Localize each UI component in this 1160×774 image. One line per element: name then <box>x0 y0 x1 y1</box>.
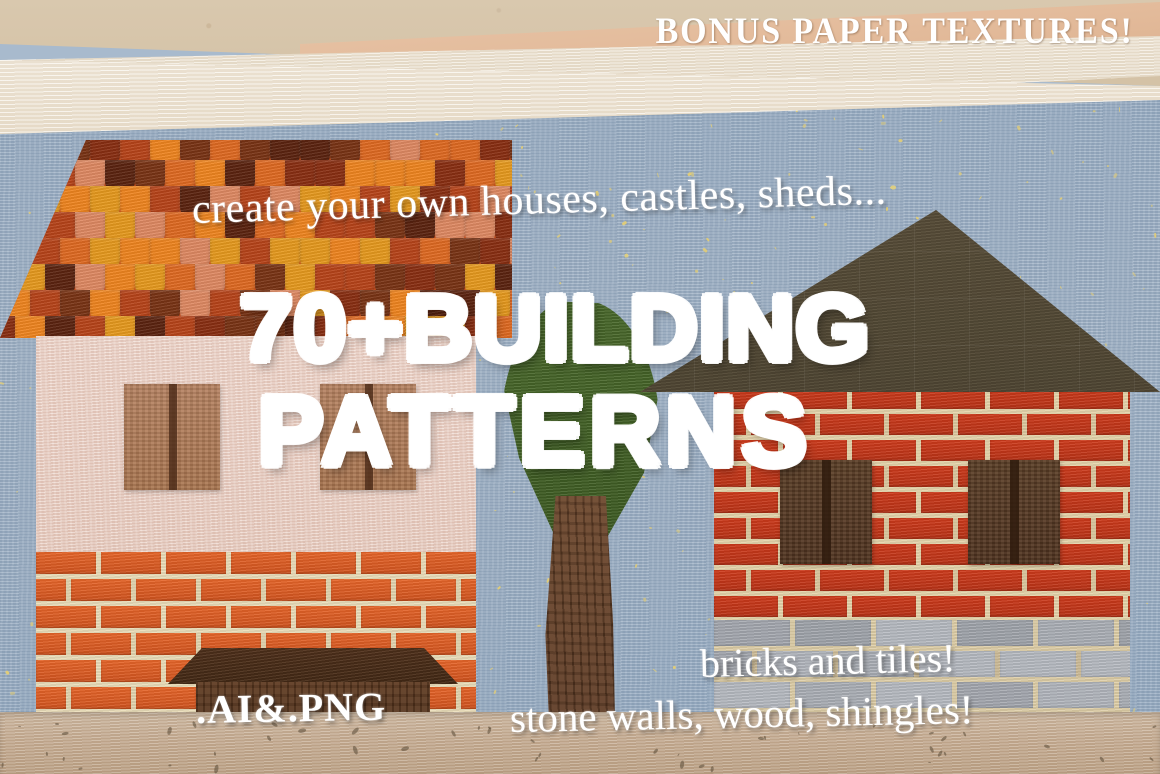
ground-fleck <box>168 765 172 767</box>
ground-fleck <box>62 731 69 735</box>
sky-speckle <box>710 124 712 128</box>
brick <box>166 552 226 574</box>
ground-fleck <box>710 766 714 773</box>
brick <box>36 552 96 574</box>
brick <box>231 606 291 628</box>
sky-speckle <box>959 171 963 175</box>
shutter-right-2 <box>968 460 1060 564</box>
title-line-2: PATTERNS <box>258 382 812 480</box>
brick <box>36 660 96 682</box>
ground-fleck <box>1099 756 1105 763</box>
roof-shingle <box>0 264 15 300</box>
brick <box>1096 518 1130 539</box>
roof-shingle <box>0 316 15 338</box>
brick <box>426 606 476 628</box>
sky-speckle <box>834 117 836 120</box>
ground-fleck <box>46 752 48 756</box>
roof-shingle <box>165 316 195 338</box>
roof-shingle <box>0 186 30 222</box>
brick <box>101 552 161 574</box>
roof-shingle <box>0 140 30 170</box>
ground-fleck <box>680 760 685 769</box>
brick <box>101 660 161 682</box>
brick <box>889 518 953 539</box>
brick <box>426 552 476 574</box>
brick <box>101 606 161 628</box>
sky-speckle <box>939 119 943 123</box>
sky-speckle <box>882 115 885 119</box>
roof-shingle <box>75 316 105 338</box>
roof-shingle <box>15 212 45 248</box>
brick <box>1096 466 1130 487</box>
ground-fleck <box>18 725 21 727</box>
brick <box>958 570 1022 591</box>
sky-speckle <box>1060 197 1064 200</box>
ground-fleck <box>167 727 172 735</box>
sky-speckle <box>515 124 519 128</box>
title-line-1: 70+BUILDING <box>240 282 871 375</box>
brick <box>751 570 815 591</box>
ground-fleck <box>214 752 216 756</box>
sky-speckle <box>1025 180 1028 183</box>
brick <box>889 466 953 487</box>
sky-speckle <box>554 266 556 268</box>
brick <box>1027 414 1091 435</box>
ground-fleck <box>213 765 219 774</box>
brick <box>396 579 456 601</box>
sky-speckle <box>1051 150 1055 155</box>
ground-fleck <box>699 764 705 769</box>
ground-fleck <box>677 753 680 756</box>
brick <box>714 544 778 565</box>
brick <box>1059 596 1123 617</box>
ground-fleck <box>938 750 944 757</box>
sky-speckle <box>979 196 982 200</box>
brick <box>1059 544 1123 565</box>
ground-fleck <box>1149 757 1154 762</box>
ground-fleck <box>928 762 931 764</box>
ground-fleck <box>1152 726 1156 729</box>
roof-shingle <box>15 316 45 338</box>
brick <box>136 579 196 601</box>
brick <box>1059 440 1123 461</box>
ground-fleck <box>55 722 59 724</box>
ground-fleck <box>943 751 947 756</box>
sky-speckle <box>802 124 807 129</box>
ground-fleck <box>487 727 492 734</box>
brick <box>1128 440 1130 461</box>
poster-canvas: create your own houses, castles, sheds..… <box>0 0 1160 774</box>
brick <box>461 687 476 709</box>
ground-fleck <box>940 735 948 742</box>
ground-fleck <box>400 746 409 752</box>
brick <box>921 596 985 617</box>
brick <box>1128 596 1130 617</box>
brick <box>461 633 476 655</box>
shed-roof <box>168 648 458 684</box>
brick <box>852 596 916 617</box>
brick <box>36 579 66 601</box>
brick <box>1128 544 1130 565</box>
brick <box>71 633 131 655</box>
brick <box>990 596 1054 617</box>
brick <box>889 414 953 435</box>
sky-speckle <box>1082 161 1085 164</box>
sky-speckle <box>631 264 634 267</box>
brick <box>958 414 1022 435</box>
sky-speckle <box>899 139 903 142</box>
brick <box>820 570 884 591</box>
brick <box>820 414 884 435</box>
brick <box>231 552 291 574</box>
tagline-bricks-and-tiles: bricks and tiles! <box>699 634 956 687</box>
brick <box>201 579 261 601</box>
sky-speckle <box>1119 107 1120 112</box>
brick <box>1128 492 1130 513</box>
ground-fleck <box>1044 744 1051 749</box>
ground-fleck <box>352 745 359 754</box>
ground-fleck <box>267 735 273 742</box>
sky-speckle <box>803 119 807 122</box>
roof-shingle <box>105 316 135 338</box>
roof-shingle <box>0 238 30 274</box>
shutter-left-1 <box>124 384 220 490</box>
brick <box>71 579 131 601</box>
roof-shingle <box>195 316 225 338</box>
brick <box>714 492 778 513</box>
sky-speckle <box>435 133 438 136</box>
sky-speckle <box>500 126 504 130</box>
ground-fleck <box>79 768 83 770</box>
ground-fleck <box>477 726 480 730</box>
ground-fleck <box>451 729 457 737</box>
brick <box>990 440 1054 461</box>
brick <box>36 633 66 655</box>
brick <box>783 596 847 617</box>
roof-shingle <box>15 160 45 196</box>
brick <box>714 596 778 617</box>
bonus-paper-textures-label: BONUS PAPER TEXTURES! <box>656 10 1134 53</box>
roof-shingle <box>45 316 75 338</box>
brick <box>361 606 421 628</box>
brick <box>331 579 391 601</box>
brick <box>36 606 96 628</box>
sky-speckle <box>557 234 561 237</box>
brick <box>1027 570 1091 591</box>
roof-shingle <box>135 316 165 338</box>
brick <box>71 687 131 709</box>
brick <box>1096 414 1130 435</box>
roof-shingle <box>0 212 15 248</box>
sky-speckle <box>1017 125 1022 131</box>
ground-fleck <box>537 752 541 758</box>
brick <box>361 552 421 574</box>
brick <box>714 518 746 539</box>
brick <box>889 570 953 591</box>
ground-fleck <box>928 746 934 754</box>
brick <box>714 570 746 591</box>
brick <box>1096 570 1130 591</box>
sky-speckle <box>609 239 613 242</box>
tagline-stone-walls: stone walls, wood, shingles! <box>510 685 974 742</box>
brick <box>852 440 916 461</box>
brick <box>1059 492 1123 513</box>
sky-speckle <box>1093 110 1096 112</box>
ground-fleck <box>63 757 65 761</box>
sky-speckle <box>881 122 886 125</box>
sky-speckle <box>1151 204 1153 206</box>
roof-shingle <box>30 140 60 170</box>
file-format-label: .AI&.PNG <box>196 683 387 733</box>
ground-fleck <box>2 762 5 767</box>
brick <box>461 579 476 601</box>
brick <box>166 606 226 628</box>
brick <box>296 552 356 574</box>
brick <box>266 579 326 601</box>
brick <box>921 440 985 461</box>
roof-shingle <box>0 160 15 196</box>
sky-speckle <box>1106 165 1108 167</box>
ground-fleck <box>653 748 659 754</box>
sky-speckle <box>1113 173 1117 178</box>
brick <box>296 606 356 628</box>
brick <box>36 687 66 709</box>
sky-speckle <box>858 148 863 151</box>
